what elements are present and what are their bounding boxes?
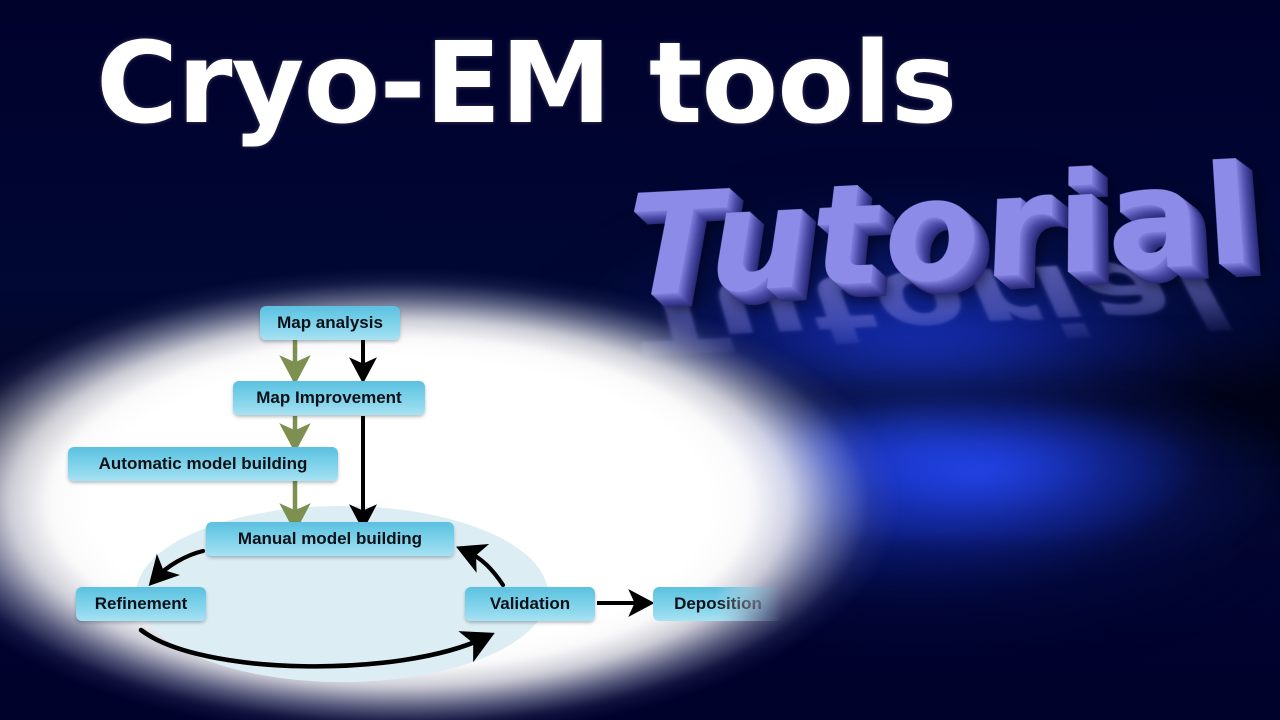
edge-validation-to-manual-model-building [466, 551, 503, 585]
node-map-analysis[interactable]: Map analysis [260, 306, 400, 340]
workflow-diagram: Map analysis Map Improvement Automatic m… [0, 0, 1280, 720]
node-automatic-model-building[interactable]: Automatic model building [68, 447, 338, 481]
node-manual-model-building[interactable]: Manual model building [206, 522, 454, 556]
edge-manual-model-building-to-refinement [156, 551, 203, 578]
slide-canvas: Tutorial Tutorial Cryo-EM tools [0, 0, 1280, 720]
node-deposition[interactable]: Deposition [653, 587, 783, 621]
edge-refinement-to-validation [141, 630, 484, 666]
node-refinement[interactable]: Refinement [76, 587, 206, 621]
node-validation[interactable]: Validation [465, 587, 595, 621]
node-map-improvement[interactable]: Map Improvement [233, 381, 425, 415]
